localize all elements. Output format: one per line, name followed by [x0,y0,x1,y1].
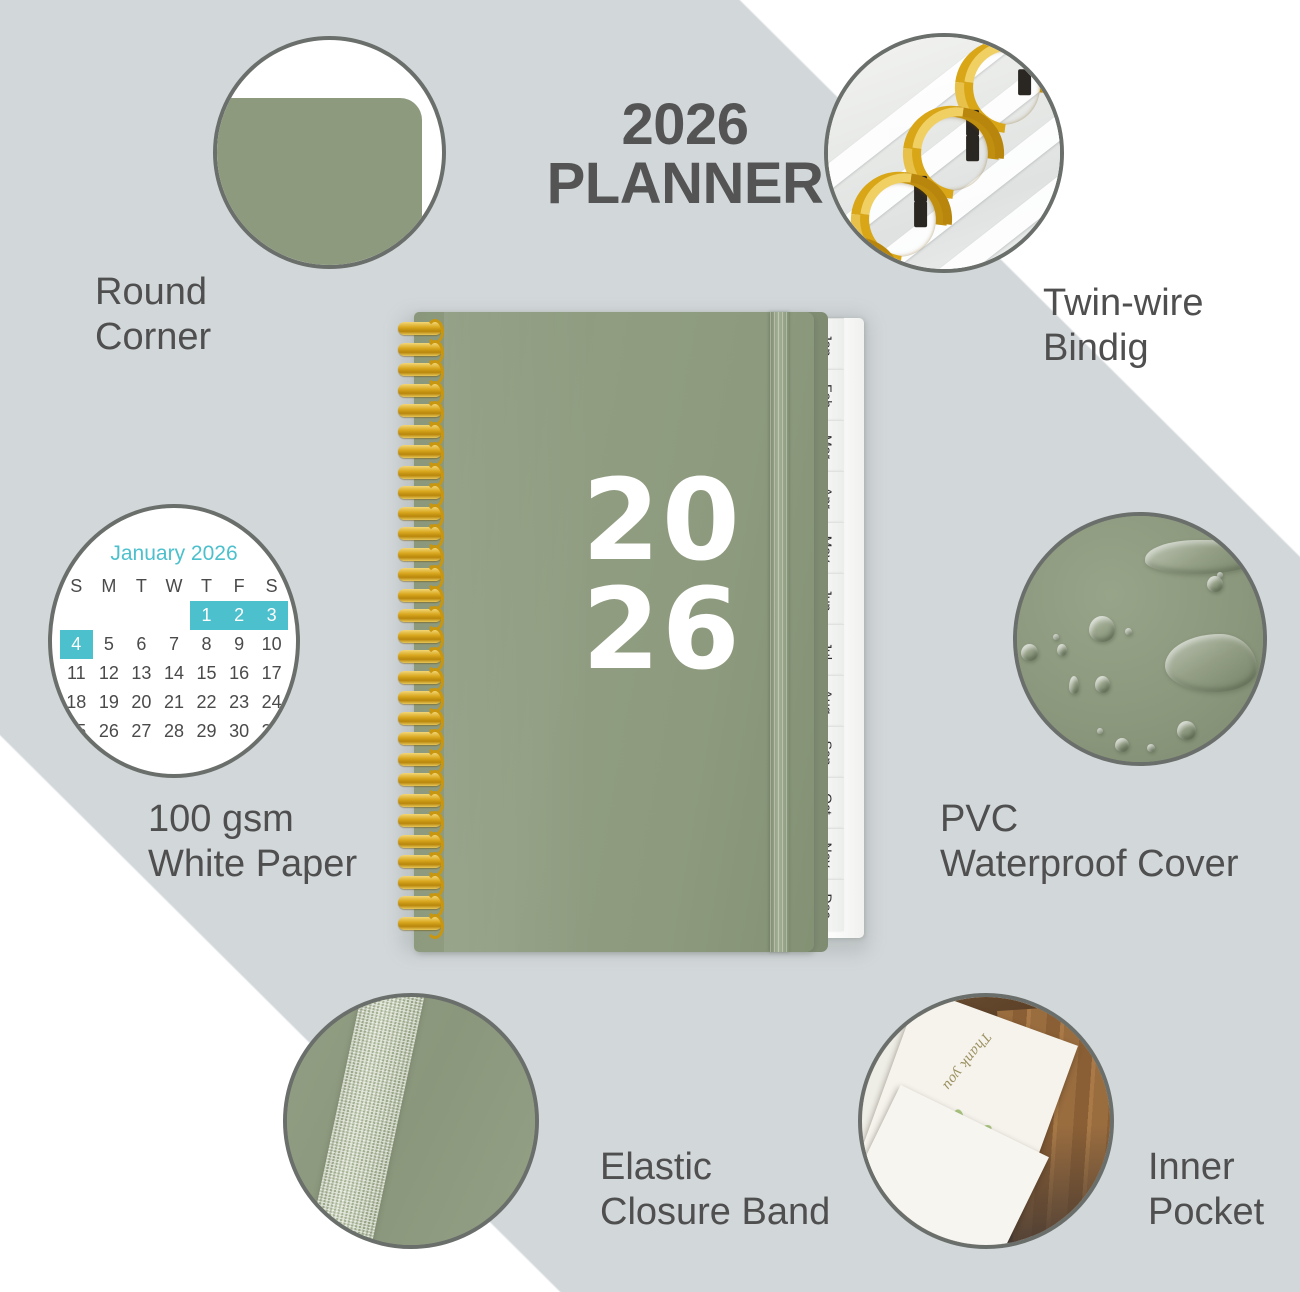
round-corner-line2: Corner [95,315,211,360]
calendar-day[interactable]: 26 [93,717,126,746]
calendar-day[interactable]: 27 [125,717,158,746]
water-drop [1125,628,1132,635]
feature-label-twin-wire: Twin-wire Bindig [1043,281,1203,371]
white-paper-line1: 100 gsm [148,798,294,840]
spiral-coil [398,712,442,725]
calendar-week-row: 25262728293031 [60,717,288,746]
cover-year-top: 20 [582,467,742,576]
water-drop [1053,634,1059,640]
pvc-line2: Waterproof Cover [940,842,1238,887]
feature-label-pvc-cover: PVC Waterproof Cover [940,797,1238,887]
water-drop [1207,576,1223,592]
spiral-coil [398,343,442,356]
calendar-title: January 2026 [52,542,296,566]
feature-label-round-corner: Round Corner [95,270,211,360]
calendar-day[interactable]: 15 [190,659,223,688]
calendar-day[interactable]: 17 [255,659,288,688]
calendar-day[interactable]: 18 [60,688,93,717]
water-drop [1069,676,1079,694]
spiral-coil [398,732,442,745]
planner-cover: 20 26 [414,312,814,952]
spiral-coil [398,691,442,704]
calendar-day[interactable]: 6 [125,630,158,659]
spiral-coil [398,630,442,643]
calendar-day[interactable]: 11 [60,659,93,688]
calendar-day[interactable]: 30 [223,717,256,746]
cover-year: 20 26 [582,467,742,684]
water-blob [1145,540,1255,574]
water-drop [1057,644,1067,656]
infographic-canvas: 2026 PLANNER Round Corner [0,0,1300,1292]
water-drop [1097,728,1103,734]
spiral-coil [398,814,442,827]
water-drop [1095,676,1110,693]
calendar-day-empty [93,601,126,630]
pvc-line1: PVC [940,798,1018,840]
calendar-day[interactable]: 24 [255,688,288,717]
spiral-coil [398,773,442,786]
spiral-coil [398,404,442,417]
spiral-coil [398,486,442,499]
feature-label-white-paper: 100 gsm White Paper [148,797,357,887]
calendar-day[interactable]: 5 [93,630,126,659]
rounded-corner-icon [213,36,446,269]
calendar-weekday: S [60,572,93,601]
calendar-day[interactable]: 16 [223,659,256,688]
calendar-day[interactable]: 3 [255,601,288,630]
feature-label-inner-pocket: Inner Pocket [1148,1145,1264,1235]
cover-highlight [444,312,594,952]
feature-label-elastic-band: Elastic Closure Band [600,1145,830,1235]
elastic-band-icon [283,993,539,1249]
headline-word: PLANNER [515,154,855,213]
calendar-day[interactable]: 13 [125,659,158,688]
rounded-corner-panel [213,98,422,269]
spiral-coil [398,917,442,930]
inner-pocket-icon: Thank you [858,993,1114,1249]
round-corner-line1: Round [95,271,207,313]
spiral-coil [398,445,442,458]
calendar-day[interactable]: 2 [223,601,256,630]
calendar-day[interactable]: 31 [255,717,288,746]
water-drop [1115,738,1129,752]
spiral-coil [398,650,442,663]
calendar-day-empty [125,601,158,630]
calendar-day[interactable]: 14 [158,659,191,688]
planner-product-image: JanFebMarAprMayJunJulAugSepOctNovDec 20 … [392,300,892,960]
pocket-line1: Inner [1148,1146,1235,1188]
calendar-body: January 2026 SMTWTFS 1234567891011121314… [52,542,296,746]
spiral-coil [398,753,442,766]
calendar-day[interactable]: 8 [190,630,223,659]
spiral-coil [398,589,442,602]
spiral-coil [398,384,442,397]
calendar-day[interactable]: 4 [60,630,93,659]
calendar-day[interactable]: 1 [190,601,223,630]
spiral-coil [398,568,442,581]
cover-elastic-band [770,312,790,952]
calendar-weekday: S [255,572,288,601]
calendar-weekday: T [190,572,223,601]
calendar-day[interactable]: 29 [190,717,223,746]
calendar-icon: January 2026 SMTWTFS 1234567891011121314… [48,504,300,778]
calendar-week-row: 45678910 [60,630,288,659]
pocket-line2: Pocket [1148,1190,1264,1235]
calendar-day[interactable]: 9 [223,630,256,659]
calendar-weekday-row: SMTWTFS [60,572,288,601]
spiral-coil [398,527,442,540]
cover-year-bottom: 26 [582,576,742,685]
calendar-day[interactable]: 21 [158,688,191,717]
calendar-day[interactable]: 19 [93,688,126,717]
spiral-coil [398,363,442,376]
twin-wire-spiral [392,322,448,942]
calendar-weeks: 1234567891011121314151617181920212223242… [60,601,288,746]
water-drop [1147,744,1155,752]
headline-year: 2026 [515,95,855,154]
calendar-day[interactable]: 23 [223,688,256,717]
spiral-coil [398,835,442,848]
page-title: 2026 PLANNER [515,95,855,213]
calendar-week-row: 123 [60,601,288,630]
calendar-weekday: T [125,572,158,601]
calendar-day[interactable]: 25 [60,717,93,746]
spiral-coil [398,507,442,520]
spiral-coil [398,671,442,684]
card-text: Thank you [939,1029,993,1092]
spiral-coil [398,876,442,889]
calendar-day[interactable]: 12 [93,659,126,688]
water-drop [1089,616,1115,642]
calendar-day-empty [158,601,191,630]
twin-wire-line1: Twin-wire [1043,282,1203,324]
twin-wire-binding-icon [824,33,1064,273]
spiral-coil [398,466,442,479]
water-droplets-icon [1013,512,1267,766]
spiral-coil [398,425,442,438]
calendar-weekday: F [223,572,256,601]
spiral-coil [398,855,442,868]
spiral-coil [398,548,442,561]
spiral-coil [398,609,442,622]
calendar-day[interactable]: 7 [158,630,191,659]
calendar-day[interactable]: 20 [125,688,158,717]
twin-wire-line2: Bindig [1043,326,1203,371]
spiral-coil [398,794,442,807]
calendar-week-row: 11121314151617 [60,659,288,688]
elastic-line2: Closure Band [600,1190,830,1235]
water-drop [1177,721,1196,740]
spiral-coil [398,896,442,909]
water-drop [1021,644,1038,661]
calendar-day-empty [60,601,93,630]
calendar-table: SMTWTFS 12345678910111213141516171819202… [60,572,288,746]
calendar-day[interactable]: 28 [158,717,191,746]
elastic-line1: Elastic [600,1146,712,1188]
calendar-weekday: M [93,572,126,601]
calendar-weekday: W [158,572,191,601]
calendar-week-row: 18192021222324 [60,688,288,717]
white-paper-line2: White Paper [148,842,357,887]
calendar-day[interactable]: 10 [255,630,288,659]
calendar-day[interactable]: 22 [190,688,223,717]
water-drop [1217,572,1223,578]
spiral-coil [398,322,442,335]
